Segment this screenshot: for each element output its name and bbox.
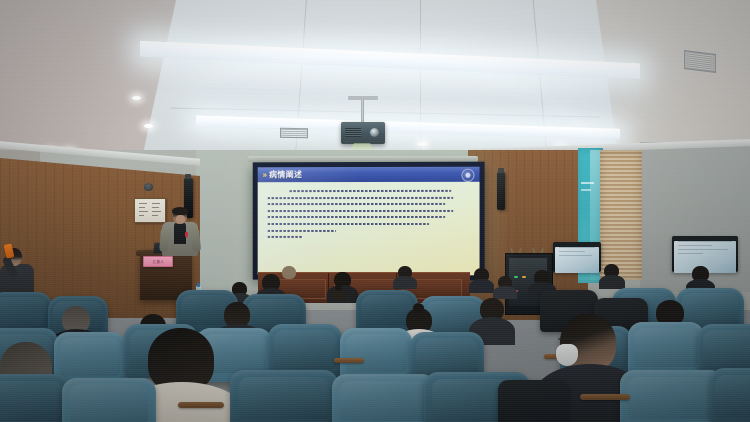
seat-dark[interactable] bbox=[498, 380, 568, 422]
presenter bbox=[160, 208, 200, 258]
slide-text-line bbox=[289, 190, 451, 192]
seat[interactable] bbox=[0, 374, 70, 422]
attendee-glasses bbox=[336, 281, 349, 282]
seat[interactable] bbox=[628, 322, 704, 376]
slide-text-line bbox=[268, 230, 336, 232]
slide-text-line bbox=[268, 196, 454, 198]
attendee-hair-bun bbox=[413, 303, 424, 313]
slide-text-line bbox=[268, 223, 429, 225]
seat[interactable] bbox=[62, 378, 156, 422]
slide-body bbox=[258, 182, 480, 247]
attendee-shoulders bbox=[469, 279, 494, 293]
teal-panel-sign bbox=[581, 189, 591, 191]
hospital-emblem-icon bbox=[461, 169, 474, 182]
slide-text-line bbox=[268, 203, 445, 205]
presenter-arm-right bbox=[190, 228, 201, 253]
smartphone bbox=[4, 243, 15, 258]
attendee-head bbox=[282, 266, 296, 279]
presenter-face bbox=[176, 215, 185, 223]
downlight bbox=[132, 96, 141, 100]
presentation-slide: » 病情阐述 bbox=[258, 167, 480, 276]
seat[interactable] bbox=[710, 368, 750, 422]
slide-title: 病情阐述 bbox=[269, 169, 302, 180]
wall-speaker-right bbox=[497, 172, 505, 210]
projector-drop-pole bbox=[361, 98, 364, 124]
armrest bbox=[580, 394, 630, 400]
teal-panel-sign bbox=[581, 182, 594, 184]
ceiling-dome-camera bbox=[144, 183, 153, 191]
conference-room-photo: » 病情阐述 汇报人 bbox=[0, 0, 750, 422]
attendee-shoulders bbox=[493, 286, 517, 299]
face-mask bbox=[556, 344, 578, 366]
slide-text-line bbox=[268, 236, 304, 238]
projector-vent bbox=[345, 128, 361, 137]
seat[interactable] bbox=[620, 370, 724, 422]
seat[interactable] bbox=[340, 328, 412, 380]
seat[interactable] bbox=[230, 370, 338, 422]
attendee-shoulders bbox=[393, 276, 417, 289]
audience-seating bbox=[0, 262, 750, 422]
speaker-mount bbox=[498, 168, 504, 173]
ceiling-vent bbox=[684, 50, 716, 73]
presenter-hair bbox=[172, 207, 188, 215]
attendee-hair-bun bbox=[335, 285, 342, 291]
wood-slat-panel bbox=[600, 150, 642, 280]
armrest bbox=[178, 402, 224, 408]
speaker-mount bbox=[185, 174, 191, 179]
attendee-shoulders bbox=[599, 275, 625, 289]
presenter-arm-left bbox=[159, 228, 170, 253]
armrest bbox=[334, 358, 364, 363]
attendee-glasses bbox=[558, 338, 580, 340]
slide-header: » 病情阐述 bbox=[258, 167, 480, 183]
projector-lens bbox=[370, 128, 379, 137]
presenter-badge bbox=[185, 232, 188, 237]
downlight bbox=[418, 142, 427, 146]
ceiling-panel-center bbox=[130, 0, 650, 168]
slide-text-line bbox=[268, 210, 454, 212]
seat[interactable] bbox=[332, 374, 436, 422]
chevron-right-icon: » bbox=[263, 170, 265, 179]
slide-text-line bbox=[268, 216, 445, 218]
ceiling-vent bbox=[280, 128, 308, 138]
downlight bbox=[144, 124, 153, 128]
